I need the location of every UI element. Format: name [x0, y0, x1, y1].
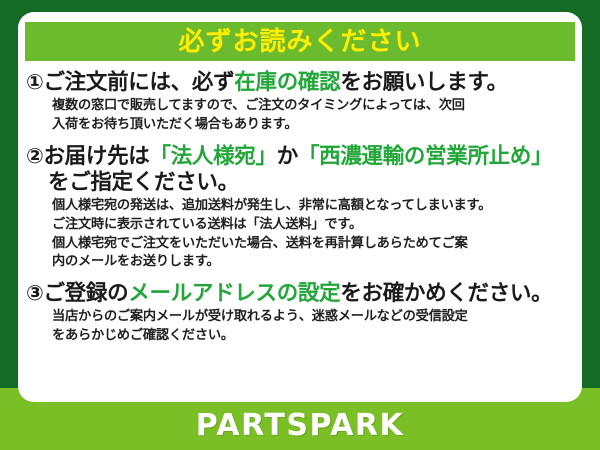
- notice-title: 必ずお読みください: [178, 29, 421, 55]
- notice-body-line: をあらかじめご確認ください。: [52, 327, 572, 346]
- notice-body-line: 内のメールをお送りします。: [52, 253, 572, 272]
- notice-item-number: ②: [26, 144, 43, 168]
- headline-text: をお願いします。: [340, 70, 507, 95]
- headline-text: お届け先は: [43, 144, 149, 169]
- headline-text: か: [277, 144, 298, 169]
- notice-body-line: ご注文時に表示されている送料は「法人送料」です。: [52, 216, 572, 235]
- headline-text: ご注文前には、必ず: [43, 70, 234, 95]
- headline-highlight: 「西濃運輸の営業所止め」: [298, 144, 552, 169]
- notice-item-number: ①: [26, 70, 43, 94]
- headline-text: をお確かめください。: [340, 281, 552, 306]
- notice-item: ③ご登録のメールアドレスの設定をお確かめください。当店からのご案内メールが受け取…: [26, 281, 572, 346]
- notice-body-line: 個人様宅宛の発送は、追加送料が発生し、非常に高額となってしまいます。: [52, 197, 572, 216]
- notice-body-line: 当店からのご案内メールが受け取れるよう、迷惑メールなどの受信設定: [52, 308, 572, 327]
- notice-item-number: ③: [26, 281, 43, 305]
- notice-item-body: 個人様宅宛の発送は、追加送料が発生し、非常に高額となってしまいます。ご注文時に表…: [26, 197, 572, 272]
- notice-item: ①ご注文前には、必ず在庫の確認をお願いします。複数の窓口で販売してますので、ご注…: [26, 70, 572, 135]
- notice-item-headline: ①ご注文前には、必ず在庫の確認をお願いします。: [26, 70, 572, 96]
- headline-highlight: 在庫の確認: [234, 70, 340, 95]
- notice-panel: 必ずお読みください ①ご注文前には、必ず在庫の確認をお願いします。複数の窓口で販…: [18, 12, 582, 402]
- notice-item-headline: ③ご登録のメールアドレスの設定をお確かめください。: [26, 281, 572, 307]
- notice-item-headline: ②お届け先は「法人様宛」か「西濃運輸の営業所止め」: [26, 144, 572, 170]
- headline-text: ご登録の: [43, 281, 128, 306]
- notice-item: ②お届け先は「法人様宛」か「西濃運輸の営業所止め」をご指定ください。個人様宅宛の…: [26, 144, 572, 272]
- headline-highlight: 「法人様宛」: [150, 144, 277, 169]
- brand-logo: PARTSPARK: [0, 411, 600, 441]
- notice-item-body: 複数の窓口で販売してますので、ご注文のタイミングによっては、次回入荷をお待ち頂い…: [26, 97, 572, 134]
- notice-items: ①ご注文前には、必ず在庫の確認をお願いします。複数の窓口で販売してますので、ご注…: [18, 61, 582, 346]
- headline-highlight: メールアドレスの設定: [128, 281, 340, 306]
- notice-body-line: 個人様宅宛でご注文をいただいた場合、送料を再計算しあらためてご案: [52, 235, 572, 254]
- notice-title-bar: 必ずお読みください: [25, 22, 575, 61]
- notice-body-line: 入荷をお待ち頂いただく場合もあります。: [52, 116, 572, 135]
- notice-item-body: 当店からのご案内メールが受け取れるよう、迷惑メールなどの受信設定をあらかじめご確…: [26, 308, 572, 345]
- notice-banner: 必ずお読みください ①ご注文前には、必ず在庫の確認をお願いします。複数の窓口で販…: [0, 0, 600, 450]
- notice-body-line: 複数の窓口で販売してますので、ご注文のタイミングによっては、次回: [52, 97, 572, 116]
- notice-item-headline-continued: をご指定ください。: [26, 170, 572, 196]
